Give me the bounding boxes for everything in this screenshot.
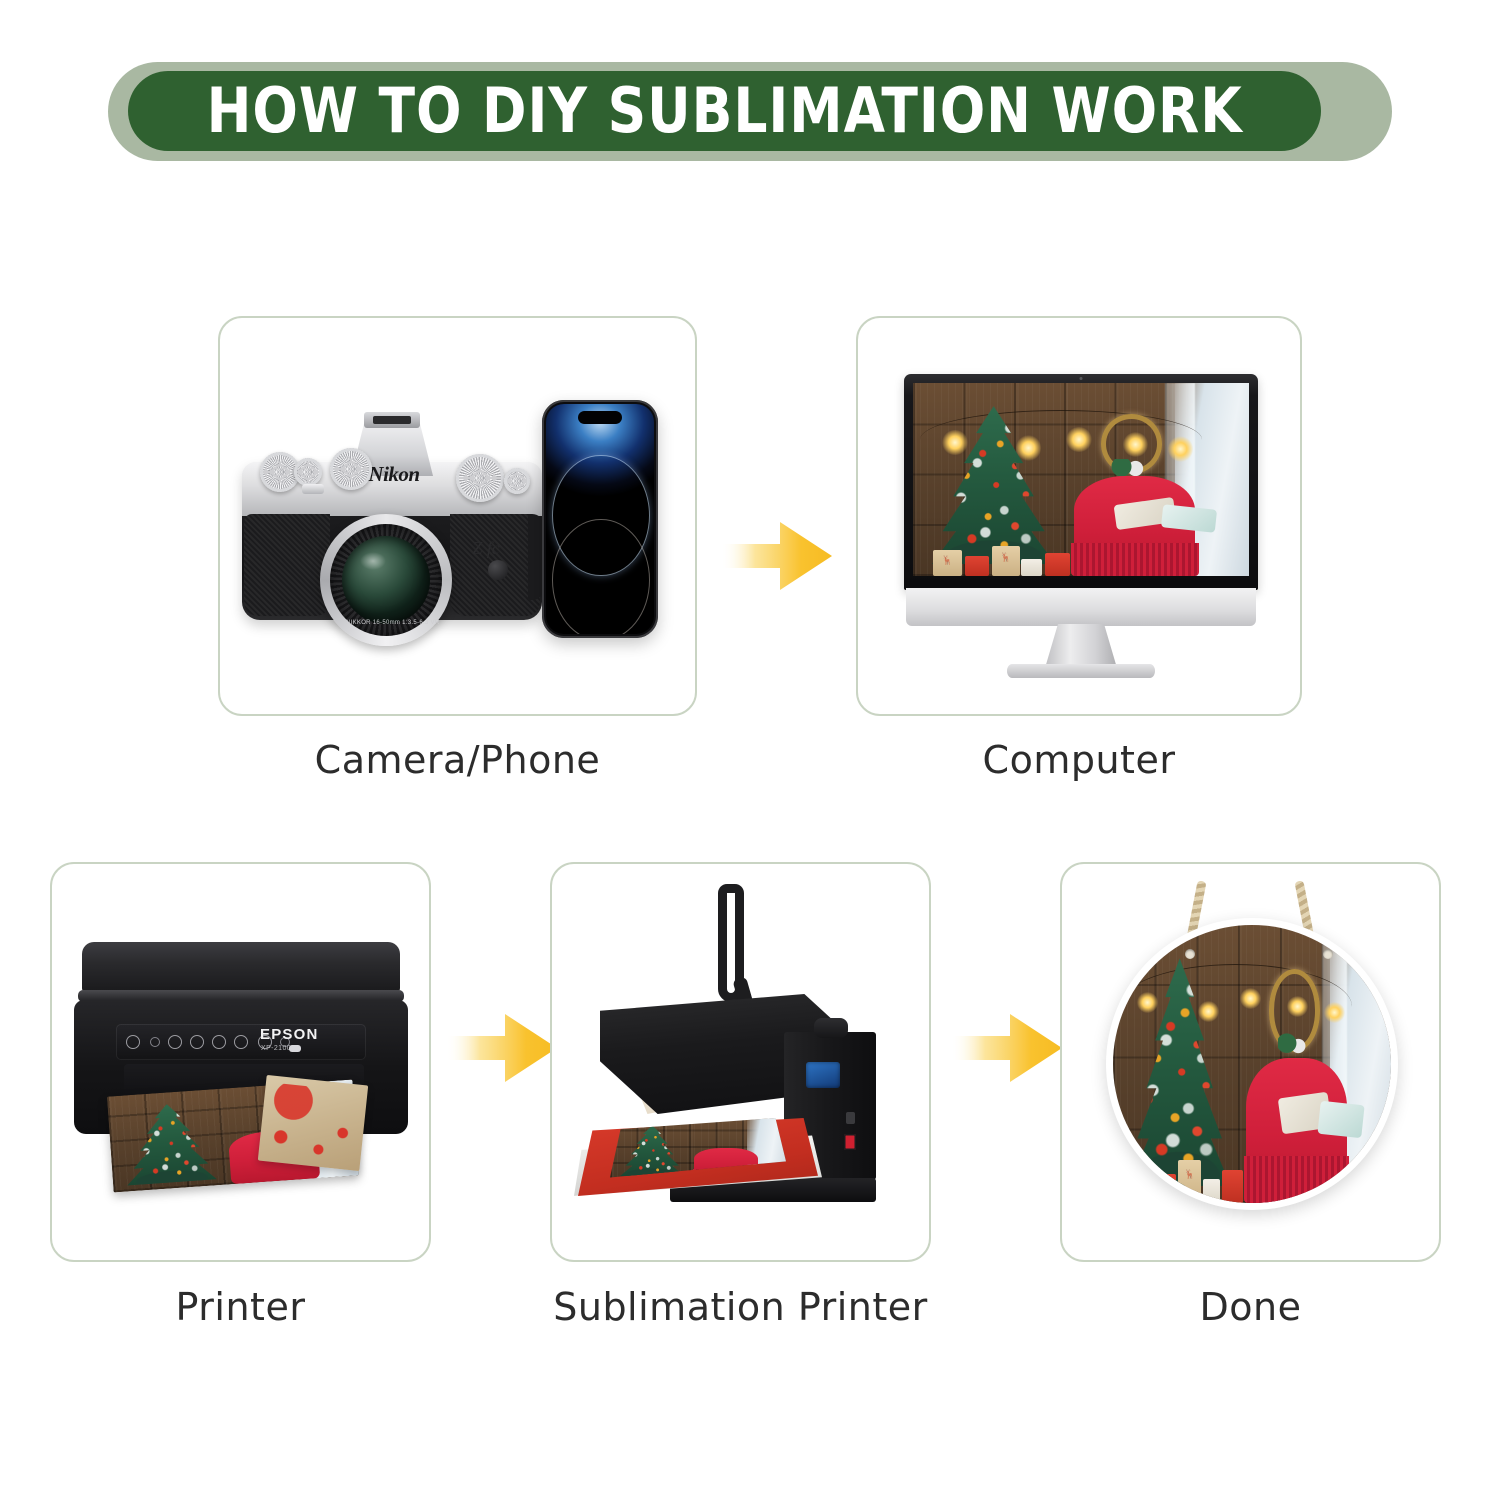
- printer-stop-button: [212, 1035, 226, 1049]
- smartphone-illustration: [542, 400, 658, 638]
- phone-screen: [546, 404, 654, 634]
- scene-light-bulb: [942, 430, 967, 455]
- camera-shutter-button: [302, 484, 324, 494]
- scene-gift-box: [1156, 1174, 1176, 1203]
- sign-rope-hole-right: [1323, 949, 1333, 959]
- label-sublimation-printer: Sublimation Printer: [550, 1285, 931, 1329]
- phone-wallpaper-arc-lower: [552, 519, 649, 634]
- scene-light-bulb: [1168, 436, 1193, 461]
- scene-chair-skirt: [1244, 1156, 1350, 1203]
- scene-gift-bag: 🦌: [1178, 1160, 1201, 1203]
- scene-gift-bag: 🦌: [992, 546, 1020, 576]
- scene-gift-deer-icon: 🦌: [942, 556, 953, 565]
- heat-press-pressure-knob: [814, 1018, 848, 1038]
- scene-gift-deer-icon: 🦌: [1136, 1174, 1147, 1183]
- camera-dial-shutter-speed: [330, 448, 372, 490]
- sign-disc: 🦌 🦌: [1106, 918, 1398, 1210]
- monitor-illustration: 🦌 🦌: [904, 374, 1258, 662]
- printer-lid: [82, 942, 400, 994]
- scene-gift-deer-icon: 🦌: [1000, 553, 1011, 562]
- label-done: Done: [1060, 1285, 1441, 1329]
- scene-wreath: [1101, 414, 1161, 474]
- scene-light-bulb: [1137, 992, 1158, 1013]
- printer-copy-color-button: [190, 1035, 204, 1049]
- round-sign-illustration: 🦌 🦌: [1094, 874, 1408, 1234]
- scene-gift-box: [1045, 553, 1070, 576]
- heat-press-illustration: [566, 882, 918, 1242]
- monitor-stand-base: [1007, 664, 1155, 678]
- monitor-bezel: 🦌 🦌: [904, 374, 1258, 590]
- scene-gift-box: [965, 556, 989, 576]
- scene-light-bulb: [1240, 988, 1261, 1009]
- scene-gift-pile: 🦌 🦌: [930, 534, 1078, 576]
- camera-dial-exposure: [504, 468, 530, 494]
- scene-chair-skirt: [1071, 543, 1199, 576]
- arrow-camera-to-computer-icon: [722, 518, 832, 594]
- card-sublimation-printer[interactable]: [550, 862, 931, 1262]
- card-camera-phone[interactable]: Nikon Z fc NIKKOR 16-50mm 1:3.5-6.3 VR: [218, 316, 697, 716]
- scene-light-bulb: [1066, 427, 1091, 452]
- printer-wifi-badge-icon: [289, 1045, 301, 1052]
- printer-control-panel: [116, 1024, 366, 1060]
- scene-gift-box: [1021, 559, 1042, 576]
- camera-model-badge: Z fc: [460, 538, 512, 559]
- label-camera-phone: Camera/Phone: [218, 738, 697, 782]
- printed-pattern: [258, 1075, 368, 1171]
- printer-model-label: XP-2100: [261, 1045, 291, 1052]
- scene-gift-bag: 🦌: [933, 550, 963, 576]
- printer-wifi-button: [234, 1035, 248, 1049]
- monitor-screen: 🦌 🦌: [913, 383, 1249, 576]
- scene-gift-bag: 🦌: [1129, 1165, 1153, 1203]
- label-printer: Printer: [50, 1285, 431, 1329]
- sign-artwork: 🦌 🦌: [1113, 925, 1391, 1203]
- scene-wreath: [1269, 969, 1321, 1051]
- scene-light-bulb: [1198, 1001, 1219, 1022]
- scene-light-bulb: [1016, 435, 1041, 460]
- label-computer: Computer: [856, 738, 1302, 782]
- heat-press-digital-display: [806, 1062, 840, 1088]
- scene-pillow-teal: [1317, 1101, 1365, 1139]
- camera-dial-mode: [456, 454, 504, 502]
- scene-gift-pile: 🦌 🦌: [1127, 1142, 1249, 1203]
- printer-status-icon: [150, 1037, 160, 1047]
- camera-illustration: Nikon Z fc NIKKOR 16-50mm 1:3.5-6.3 VR: [242, 410, 554, 632]
- sign-rope-hole-left: [1185, 949, 1195, 959]
- phone-dynamic-island: [578, 411, 622, 424]
- title-banner-inner: HOW TO DIY SUBLIMATION WORK: [128, 71, 1321, 151]
- camera-lens-text: NIKKOR 16-50mm 1:3.5-6.3 VR: [346, 620, 428, 626]
- printer-copy-button: [168, 1035, 182, 1049]
- card-done[interactable]: 🦌 🦌: [1060, 862, 1441, 1262]
- camera-lens-reflection: [360, 552, 386, 570]
- arrow-printer-to-press-icon: [447, 1010, 557, 1086]
- monitor-chin: [906, 588, 1256, 626]
- camera-function-button: [488, 560, 508, 580]
- scene-gift-box: [1203, 1179, 1220, 1203]
- printer-brand-label: EPSON: [260, 1026, 319, 1043]
- monitor-webcam-icon: [1080, 377, 1083, 380]
- camera-dial-small: [294, 458, 322, 486]
- camera-grip-leather-left: [244, 514, 330, 616]
- monitor-stand-neck: [1045, 624, 1117, 668]
- scene-gift-box: [1222, 1170, 1243, 1203]
- camera-hotshoe: [364, 412, 420, 428]
- card-printer[interactable]: EPSON XP-2100: [50, 862, 431, 1262]
- page-title: HOW TO DIY SUBLIMATION WORK: [206, 80, 1242, 142]
- sign-christmas-scene: 🦌 🦌: [1113, 925, 1391, 1203]
- camera-lens-glass: [342, 536, 430, 624]
- arrow-press-to-done-icon: [952, 1010, 1062, 1086]
- card-computer[interactable]: 🦌 🦌: [856, 316, 1302, 716]
- heat-press-toggle-switch: [846, 1112, 855, 1124]
- christmas-scene-wallpaper: 🦌 🦌: [913, 383, 1249, 576]
- printer-power-button: [126, 1035, 140, 1049]
- scene-gift-deer-icon: 🦌: [1184, 1170, 1195, 1179]
- printer-illustration: EPSON XP-2100: [74, 942, 408, 1194]
- printer-printed-photo-secondary: [258, 1075, 368, 1171]
- scene-light-bulb: [1324, 1002, 1345, 1023]
- heat-press-power-switch: [844, 1134, 856, 1150]
